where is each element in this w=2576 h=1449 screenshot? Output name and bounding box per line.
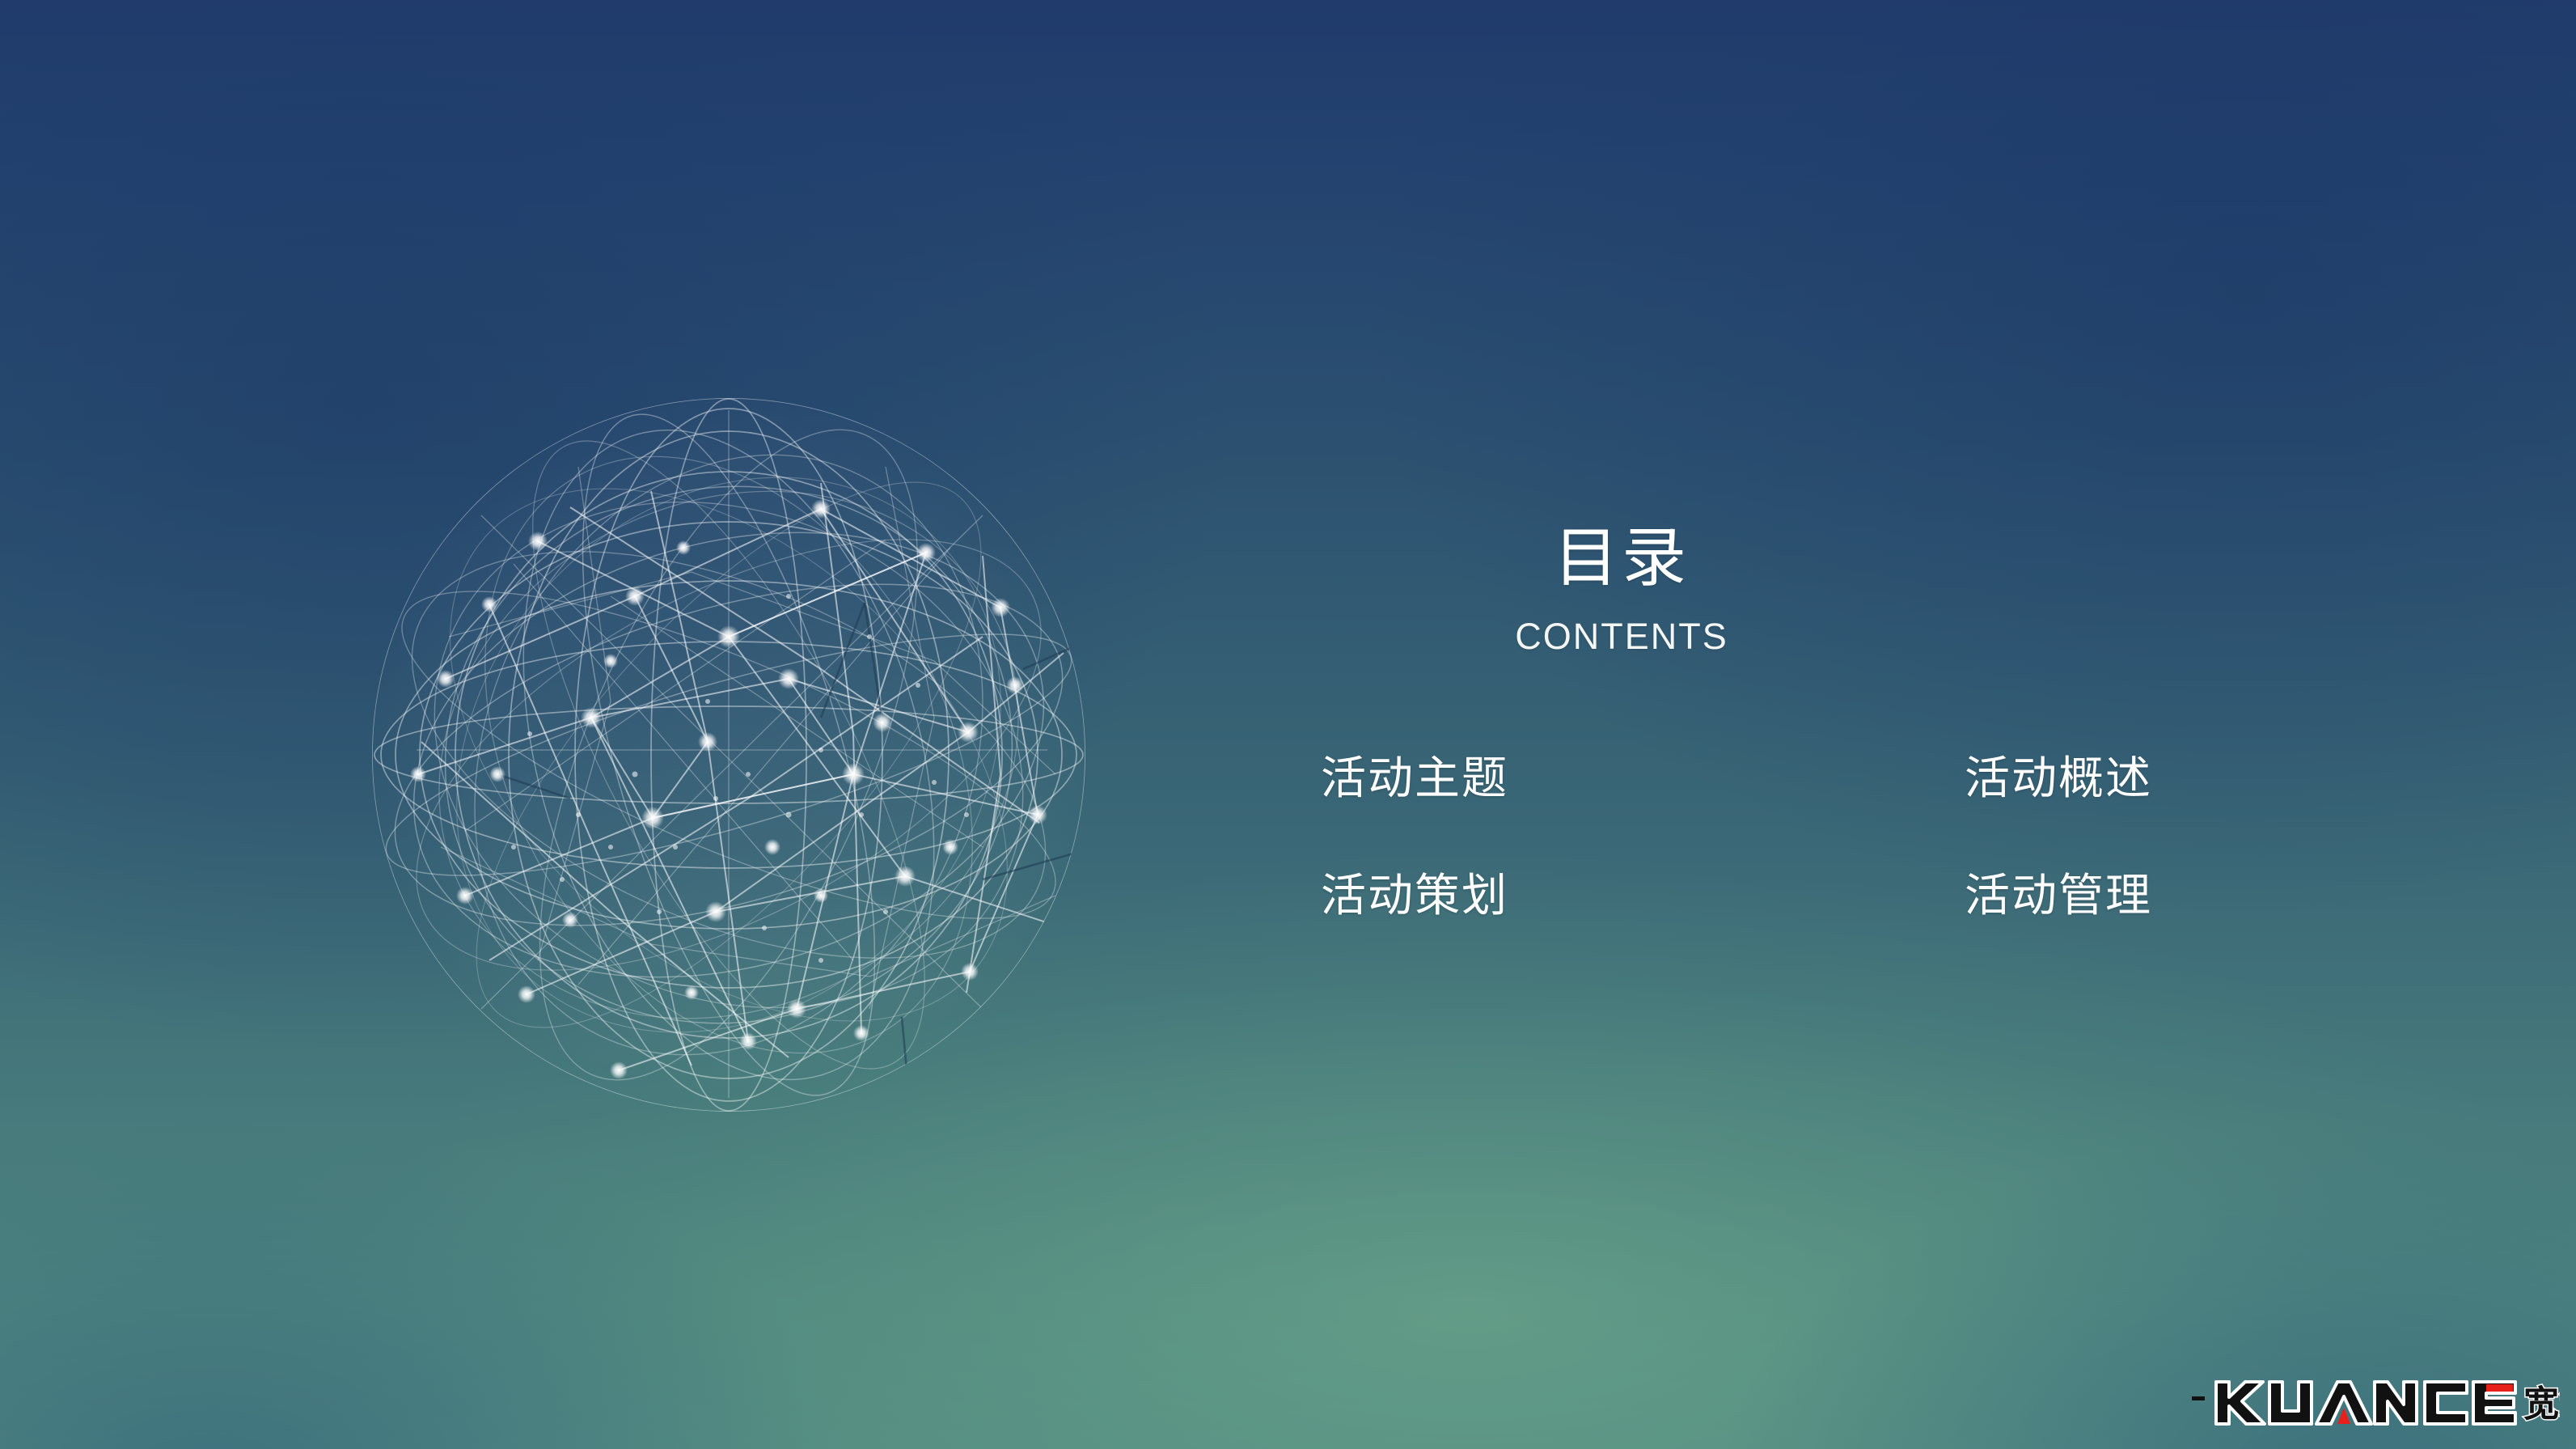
contents-item-grid: 活动主题 活动概述 活动策划 活动管理 [1314, 753, 2172, 921]
logo-red-triangle [2337, 1408, 2350, 1424]
kuance-logo-mark: 宽策展览 ® [2192, 1371, 2560, 1427]
contents-item-activity-planning[interactable]: 活动策划 [1314, 871, 1745, 922]
logo-chinese-wordmark: 宽策展览 [2523, 1384, 2560, 1424]
contents-block: 目录 CONTENTS 活动主题 活动概述 活动策划 活动管理 [1314, 526, 2172, 921]
network-globe-graphic [368, 394, 1089, 1116]
page-title: 目录 [1314, 526, 1929, 591]
contents-heading: 目录 CONTENTS [1314, 526, 1929, 655]
slide-canvas: 目录 CONTENTS 活动主题 活动概述 活动策划 活动管理 [0, 0, 2576, 1449]
contents-item-activity-management[interactable]: 活动管理 [1745, 871, 2175, 922]
logo-red-bar [2486, 1384, 2513, 1392]
contents-item-activity-overview[interactable]: 活动概述 [1745, 753, 2175, 804]
brand-logo: 宽策展览 ® [2192, 1371, 2560, 1427]
contents-item-activity-theme[interactable]: 活动主题 [1314, 753, 1745, 804]
page-subtitle: CONTENTS [1314, 618, 1929, 655]
